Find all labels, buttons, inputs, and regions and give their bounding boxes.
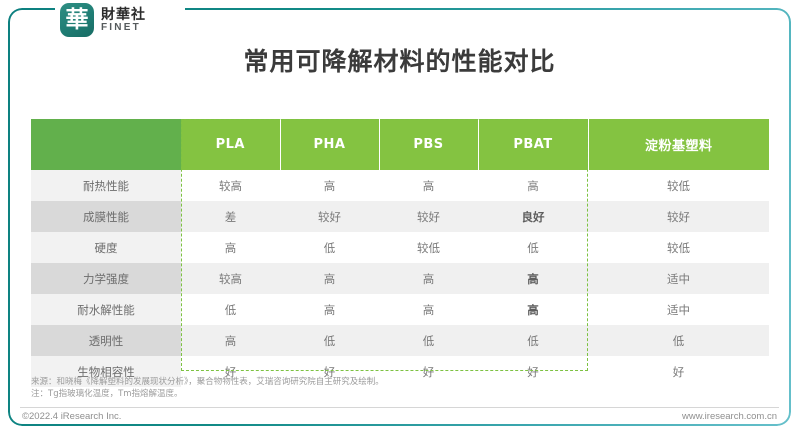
cell-starch: 较低 <box>588 170 769 201</box>
footer-divider <box>20 407 779 408</box>
cell-pbs: 高 <box>379 294 478 325</box>
cell-pbs: 低 <box>379 325 478 356</box>
page-title: 常用可降解材料的性能对比 <box>0 42 799 78</box>
cell-pla: 较高 <box>181 170 280 201</box>
brand-logo: 華 財華社 FINET <box>60 2 146 38</box>
row-label: 耐热性能 <box>31 170 181 201</box>
cell-pbs: 高 <box>379 263 478 294</box>
row-label: 硬度 <box>31 232 181 263</box>
table-row: 成膜性能 差 较好 较好 良好 较好 <box>31 201 769 232</box>
row-label: 成膜性能 <box>31 201 181 232</box>
slide-root: 華 財華社 FINET 常用可降解材料的性能对比 PLA PHA PBS PBA… <box>0 0 799 434</box>
table-row: 耐水解性能 低 高 高 高 适中 <box>31 294 769 325</box>
table-row: 硬度 高 低 较低 低 较低 <box>31 232 769 263</box>
cell-pla: 高 <box>181 325 280 356</box>
cell-pla: 差 <box>181 201 280 232</box>
table-header-corner <box>31 119 181 170</box>
cell-pla: 低 <box>181 294 280 325</box>
table-row: 力学强度 较高 高 高 高 适中 <box>31 263 769 294</box>
footer: ©2022.4 iResearch Inc. www.iresearch.com… <box>22 411 777 422</box>
table-header-row: PLA PHA PBS PBAT 淀粉基塑料 <box>31 119 769 170</box>
remark-note: 注：Tg指玻璃化温度，Tm指熔解温度。 <box>31 388 384 400</box>
cell-pbat: 低 <box>478 325 588 356</box>
table-header-pbs: PBS <box>379 119 478 170</box>
cell-starch: 好 <box>588 356 769 387</box>
table-header-starch: 淀粉基塑料 <box>588 119 769 170</box>
cell-pha: 高 <box>280 170 379 201</box>
table-row: 透明性 高 低 低 低 低 <box>31 325 769 356</box>
cell-pha: 较好 <box>280 201 379 232</box>
cell-pbs: 较好 <box>379 201 478 232</box>
cell-pbs: 高 <box>379 170 478 201</box>
cell-pha: 高 <box>280 294 379 325</box>
copyright-text: ©2022.4 iResearch Inc. <box>22 411 121 422</box>
table-header-pla: PLA <box>181 119 280 170</box>
cell-pha: 低 <box>280 325 379 356</box>
cell-pbat: 良好 <box>478 201 588 232</box>
row-label: 耐水解性能 <box>31 294 181 325</box>
cell-pbs: 好 <box>379 356 478 387</box>
table-row: 耐热性能 较高 高 高 高 较低 <box>31 170 769 201</box>
brand-name-en: FINET <box>101 23 146 33</box>
brand-name-cn: 財華社 <box>101 8 146 22</box>
cell-pha: 高 <box>280 263 379 294</box>
website-link[interactable]: www.iresearch.com.cn <box>682 411 777 422</box>
row-label: 透明性 <box>31 325 181 356</box>
cell-starch: 较低 <box>588 232 769 263</box>
table-head: PLA PHA PBS PBAT 淀粉基塑料 <box>31 119 769 170</box>
cell-pla: 高 <box>181 232 280 263</box>
footnotes: 来源：和晓梅《降解塑料的发展现状分析》，聚合物物性表，艾瑞咨询研究院自主研究及绘… <box>31 376 384 401</box>
brand-text: 財華社 FINET <box>101 8 146 33</box>
cell-starch: 较好 <box>588 201 769 232</box>
source-note: 来源：和晓梅《降解塑料的发展现状分析》，聚合物物性表，艾瑞咨询研究院自主研究及绘… <box>31 376 384 388</box>
cell-pbat: 好 <box>478 356 588 387</box>
table-body: 耐热性能 较高 高 高 高 较低 成膜性能 差 较好 较好 良好 较好 硬度 <box>31 170 769 387</box>
finet-logo-icon: 華 <box>60 3 94 37</box>
cell-pha: 低 <box>280 232 379 263</box>
cell-starch: 适中 <box>588 263 769 294</box>
table-header-pbat: PBAT <box>478 119 588 170</box>
cell-pbs: 较低 <box>379 232 478 263</box>
cell-pbat: 高 <box>478 294 588 325</box>
table-header-pha: PHA <box>280 119 379 170</box>
cell-starch: 低 <box>588 325 769 356</box>
cell-pbat: 低 <box>478 232 588 263</box>
cell-pbat: 高 <box>478 263 588 294</box>
row-label: 力学强度 <box>31 263 181 294</box>
cell-pla: 较高 <box>181 263 280 294</box>
comparison-table-area: PLA PHA PBS PBAT 淀粉基塑料 耐热性能 较高 高 高 高 较低 <box>31 119 769 387</box>
comparison-table: PLA PHA PBS PBAT 淀粉基塑料 耐热性能 较高 高 高 高 较低 <box>31 119 769 387</box>
cell-starch: 适中 <box>588 294 769 325</box>
cell-pbat: 高 <box>478 170 588 201</box>
